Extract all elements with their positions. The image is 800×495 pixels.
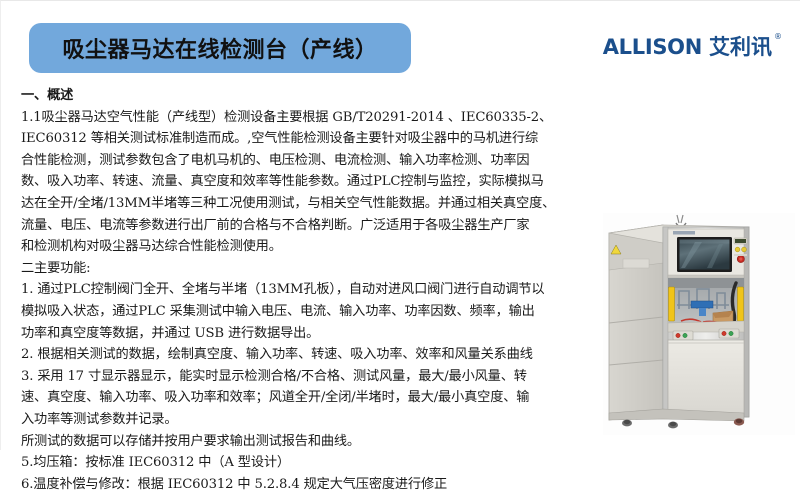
function-line-7: 入功率等测试参数并记录。 xyxy=(21,409,599,431)
overview-line-1: 1.1吸尘器马达空气性能（产线型）检测设备主要根据 GB/T20291-2014… xyxy=(21,107,599,129)
section-heading-overview: 一、概述 xyxy=(21,85,599,107)
registered-trademark-icon: ® xyxy=(774,33,782,41)
function-line-5: 3. 采用 17 寸显示器显示，能实时显示检测合格/不合格、测试风量，最大/最小… xyxy=(21,366,599,388)
function-line-1: 1. 通过PLC控制阀门全开、全堵与半堵（13MM孔板），自动对进风口阀门进行自… xyxy=(21,279,599,301)
logo-brand-en: ALLISON xyxy=(603,37,702,58)
page-title: 吸尘器马达在线检测台（产线） xyxy=(62,32,377,64)
function-line-4: 2. 根据相关测试的数据，绘制真空度、输入功率、转速、吸入功率、效率和风量关系曲… xyxy=(21,344,599,366)
function-line-3: 功率和真空度等数据，并通过 USB 进行数据导出。 xyxy=(21,323,599,345)
overview-line-6: 流量、电压、电流等参数进行出厂前的合格与不合格判断。广泛适用于各吸尘器生产厂家 xyxy=(21,215,599,237)
overview-line-3: 合性能检测，测试参数包含了电机马机的、电压检测、电流检测、输入功率检测、功率因 xyxy=(21,150,599,172)
industrial-test-station-photo xyxy=(603,213,795,435)
function-line-9: 5.均压箱：按标准 IEC60312 中（A 型设计） xyxy=(21,452,599,474)
function-line-2: 模拟吸入状态，通过PLC 采集测试中输入电压、电流、输入功率、功率因数、频率，输… xyxy=(21,301,599,323)
slide-title-banner: 吸尘器马达在线检测台（产线） xyxy=(29,23,411,73)
function-line-8: 所测试的数据可以存储并按用户要求输出测试报告和曲线。 xyxy=(21,431,599,453)
function-line-6: 速、真空度、输入功率、吸入功率和效率；风道全开/全闭/半堵时，最大/最小真空度、… xyxy=(21,387,599,409)
logo-brand-cn: 艾利讯 xyxy=(709,37,772,58)
company-logo: ALLISON 艾利讯 ® xyxy=(603,37,782,58)
function-line-10: 6.温度补偿与修改：根据 IEC60312 中 5.2.8.4 规定大气压密度进… xyxy=(21,474,599,495)
slide-body-text: 一、概述 1.1吸尘器马达空气性能（产线型）检测设备主要根据 GB/T20291… xyxy=(21,85,599,495)
section-heading-functions: 二主要功能: xyxy=(21,258,599,280)
overview-line-4: 数、吸入功率、转速、流量、真空度和效率等性能参数。通过PLC控制与监控，实际模拟… xyxy=(21,171,599,193)
overview-line-7: 和检测机构对吸尘器马达综合性能检测使用。 xyxy=(21,236,599,258)
overview-line-5: 达在全开/全堵/13MM半堵等三种工况使用测试，与相关空气性能数据。并通过相关真… xyxy=(21,193,599,215)
slide-canvas: 吸尘器马达在线检测台（产线） ALLISON 艾利讯 ® 一、概述 1.1吸尘器… xyxy=(0,0,800,450)
overview-line-2: IEC60312 等相关测试标准制造而成。,空气性能检测设备主要针对吸尘器中的马… xyxy=(21,128,599,150)
